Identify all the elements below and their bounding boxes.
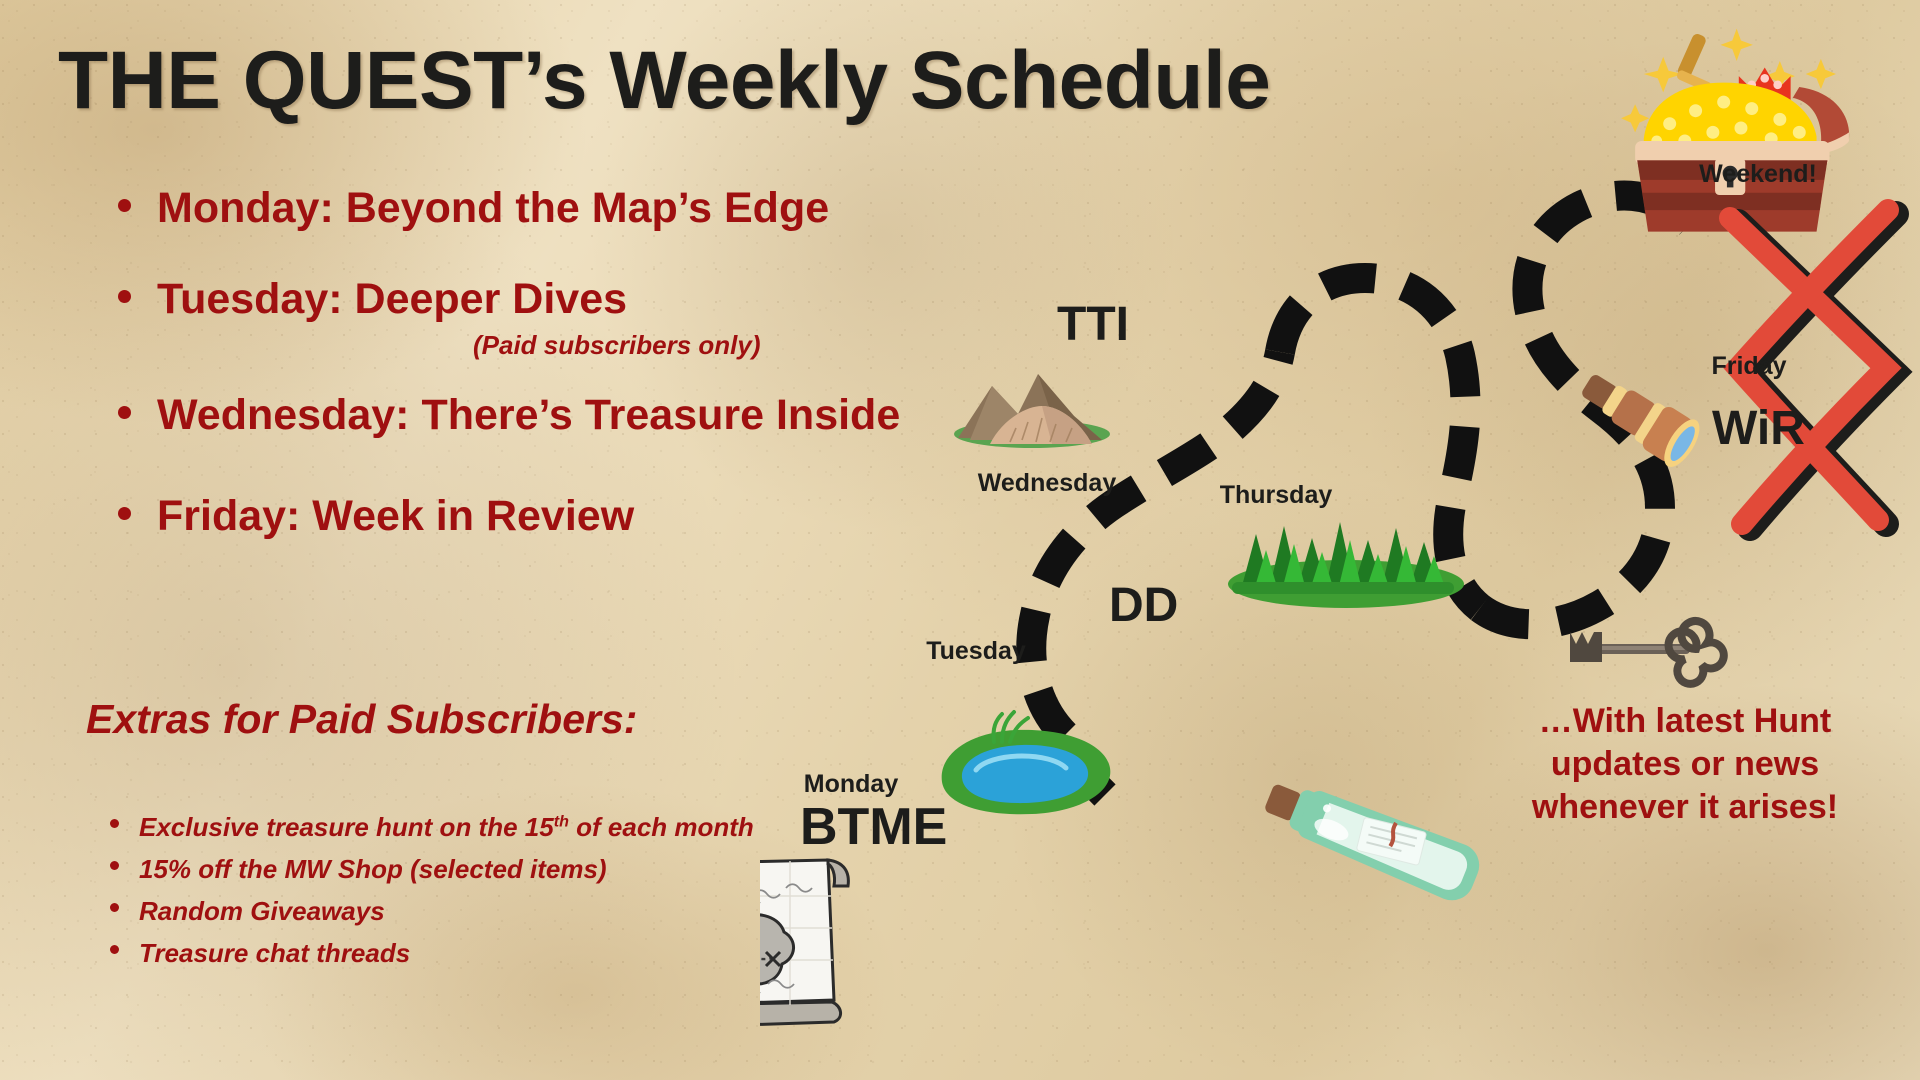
bullet-dot-icon: [110, 819, 119, 828]
extras-list: Exclusive treasure hunt on the 15th of e…: [110, 812, 754, 980]
map-label-thursday: Thursday: [1220, 481, 1333, 510]
treasure-chest-icon: [1621, 29, 1849, 232]
hunt-updates-blurb: …With latest Hunt updates or news whenev…: [1470, 700, 1900, 830]
skeleton-key-icon: [1570, 621, 1724, 684]
map-code-wir: WiR: [1712, 401, 1805, 456]
map-code-dd: DD: [1109, 578, 1178, 633]
list-item: Exclusive treasure hunt on the 15th of e…: [110, 812, 754, 843]
schedule-item-label: Tuesday: Deeper Dives: [157, 275, 627, 324]
bullet-dot-icon: [118, 406, 131, 419]
map-code-tti: TTI: [1057, 297, 1129, 352]
slide-canvas: THE QUEST’s Weekly Schedule Monday: Beyo…: [0, 0, 1920, 1080]
blurb-line: updates or news: [1470, 743, 1900, 786]
map-label-weekend: Weekend!: [1699, 160, 1817, 189]
list-item: Tuesday: Deeper Dives: [118, 275, 1018, 324]
list-item: Monday: Beyond the Map’s Edge: [118, 184, 1018, 233]
list-item: Friday: Week in Review: [118, 492, 1018, 541]
extras-item-label: Treasure chat threads: [139, 938, 410, 969]
map-label-wednesday: Wednesday: [978, 469, 1116, 498]
bullet-dot-icon: [118, 507, 131, 520]
extras-item-label: Exclusive treasure hunt on the 15th of e…: [139, 812, 754, 843]
blurb-line: …With latest Hunt: [1470, 700, 1900, 743]
map-label-tuesday: Tuesday: [926, 637, 1026, 666]
schedule-item-label: Wednesday: There’s Treasure Inside: [157, 391, 900, 440]
pond-icon: [942, 712, 1111, 814]
extras-heading: Extras for Paid Subscribers:: [86, 696, 637, 743]
bullet-dot-icon: [118, 290, 131, 303]
schedule-item-label: Friday: Week in Review: [157, 492, 634, 541]
schedule-item-label: Monday: Beyond the Map’s Edge: [157, 184, 829, 233]
blurb-line: whenever it arises!: [1470, 786, 1900, 829]
forest-icon: [1228, 522, 1464, 608]
bullet-dot-icon: [110, 903, 119, 912]
bullet-dot-icon: [110, 945, 119, 954]
list-item: Treasure chat threads: [110, 938, 754, 969]
list-item: Wednesday: There’s Treasure Inside: [118, 391, 1018, 440]
map-code-btme: BTME: [800, 797, 947, 857]
extras-item-label: Random Giveaways: [139, 896, 385, 927]
schedule-list: Monday: Beyond the Map’s Edge Tuesday: D…: [118, 184, 1018, 541]
treasure-map-scroll-icon: [760, 860, 848, 1028]
bullet-dot-icon: [118, 199, 131, 212]
list-item: 15% off the MW Shop (selected items): [110, 854, 754, 885]
map-label-monday: Monday: [804, 770, 898, 799]
extras-item-label: 15% off the MW Shop (selected items): [139, 854, 607, 885]
message-in-a-bottle-icon: [1258, 770, 1486, 907]
bullet-dot-icon: [110, 861, 119, 870]
telescope-icon: [1573, 361, 1707, 473]
map-label-friday: Friday: [1711, 352, 1786, 381]
paid-subscribers-note: (Paid subscribers only): [473, 330, 1018, 361]
page-title: THE QUEST’s Weekly Schedule: [58, 34, 1270, 128]
list-item: Random Giveaways: [110, 896, 754, 927]
